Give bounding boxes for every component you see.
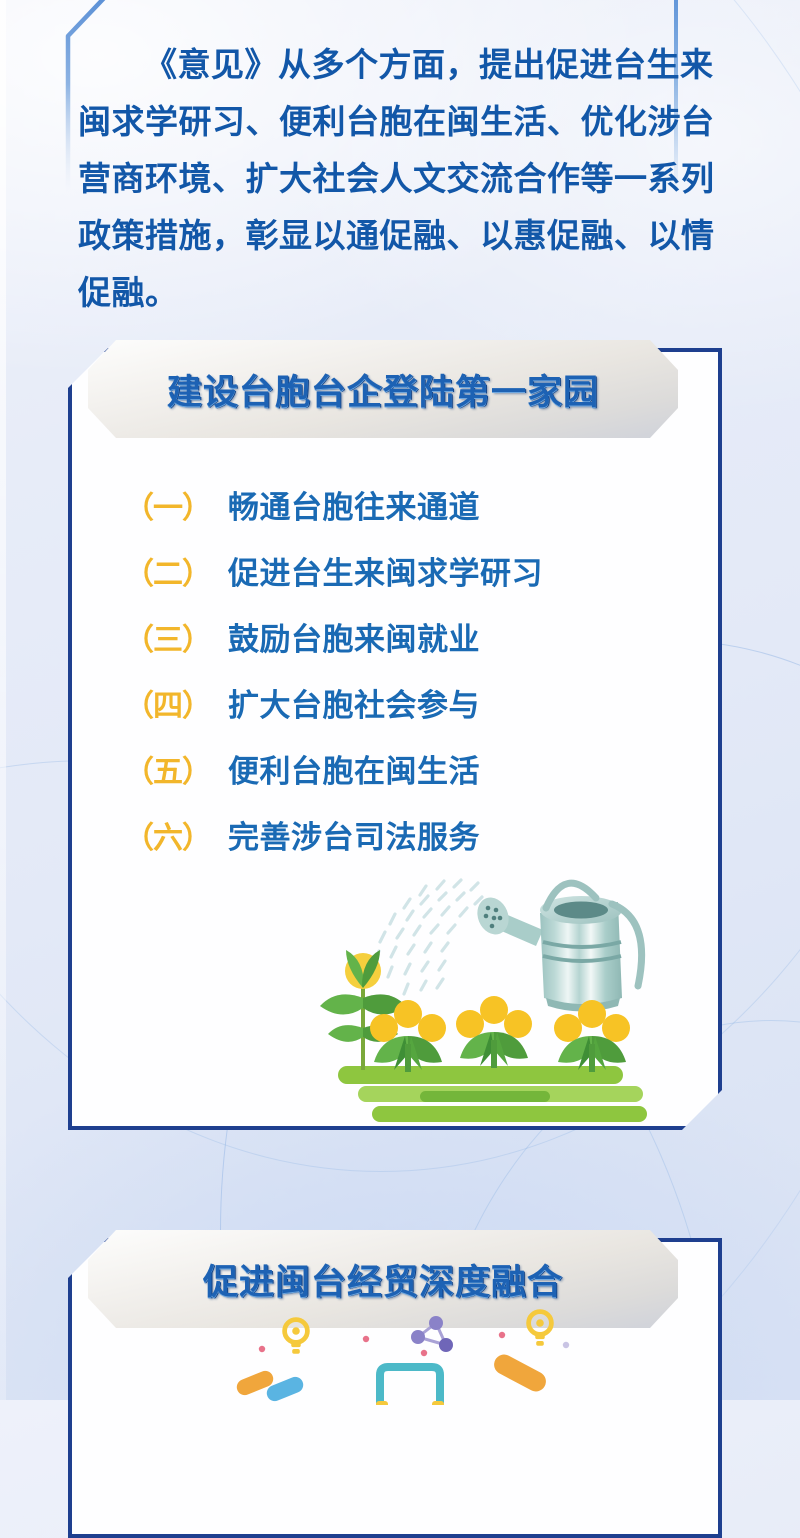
list-item-number: （六） bbox=[124, 813, 228, 857]
section-banner: 建设台胞台企登陆第一家园 bbox=[88, 340, 678, 438]
section-banner-title: 建设台胞台企登陆第一家园 bbox=[167, 364, 599, 415]
section-banner-title: 促进闽台经贸深度融合 bbox=[203, 1254, 563, 1305]
list-item-label: 扩大台胞社会参与 bbox=[228, 680, 480, 725]
list-item-label: 鼓励台胞来闽就业 bbox=[228, 614, 480, 659]
list-item-number: （一） bbox=[124, 483, 228, 527]
list-item-number: （二） bbox=[124, 549, 228, 593]
lightbulb-network-idea-icon bbox=[210, 1305, 650, 1405]
list-item[interactable]: （三） 鼓励台胞来闽就业 bbox=[124, 614, 543, 659]
list-item[interactable]: （一） 畅通台胞往来通道 bbox=[124, 482, 543, 527]
list-item[interactable]: （五） 便利台胞在闽生活 bbox=[124, 746, 543, 791]
list-item-label: 畅通台胞往来通道 bbox=[228, 482, 480, 527]
list-item-number: （五） bbox=[124, 747, 228, 791]
list-item[interactable]: （四） 扩大台胞社会参与 bbox=[124, 680, 543, 725]
list-item-number: （三） bbox=[124, 615, 228, 659]
list-item-label: 便利台胞在闽生活 bbox=[228, 746, 480, 791]
watering-can-plants-icon bbox=[300, 838, 670, 1128]
list-item-label: 促进台生来闽求学研习 bbox=[228, 548, 543, 593]
policy-list: （一） 畅通台胞往来通道 （二） 促进台生来闽求学研习 （三） 鼓励台胞来闽就业… bbox=[124, 482, 543, 878]
list-item-number: （四） bbox=[124, 681, 228, 725]
list-item[interactable]: （二） 促进台生来闽求学研习 bbox=[124, 548, 543, 593]
